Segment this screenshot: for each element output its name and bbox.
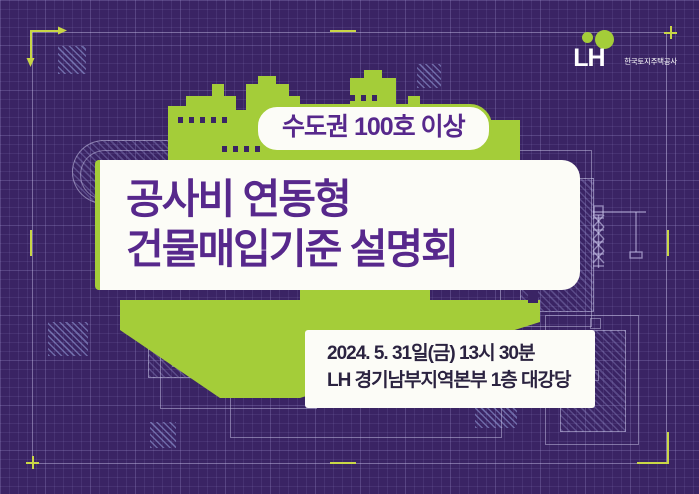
lh-logo-wordmark: LH xyxy=(573,46,604,71)
title-line-2: 건물매입기준 설명회 xyxy=(100,224,580,274)
event-datetime: 2024. 5. 31일(금) 13시 30분 xyxy=(327,341,571,368)
lh-logo-subtitle: 한국토지주택공사 xyxy=(624,56,677,70)
lh-logo-mark-icon: LH xyxy=(573,30,619,70)
lh-logo: LH 한국토지주택공사 xyxy=(573,30,677,70)
title-line-1: 공사비 연동형 xyxy=(100,174,580,224)
title-card: 공사비 연동형 건물매입기준 설명회 xyxy=(95,160,580,290)
poster-canvas: LH 한국토지주택공사 수도권 100호 이상 공사비 연동형 건물매입기준 설… xyxy=(0,0,699,494)
lh-logo-small-circle-icon xyxy=(582,32,593,43)
event-info-card: 2024. 5. 31일(금) 13시 30분 LH 경기남부지역본부 1층 대… xyxy=(305,330,595,408)
subtitle-badge: 수도권 100호 이상 xyxy=(255,104,492,153)
event-venue: LH 경기남부지역본부 1층 대강당 xyxy=(327,368,571,395)
subtitle-badge-text: 수도권 100호 이상 xyxy=(282,115,465,140)
